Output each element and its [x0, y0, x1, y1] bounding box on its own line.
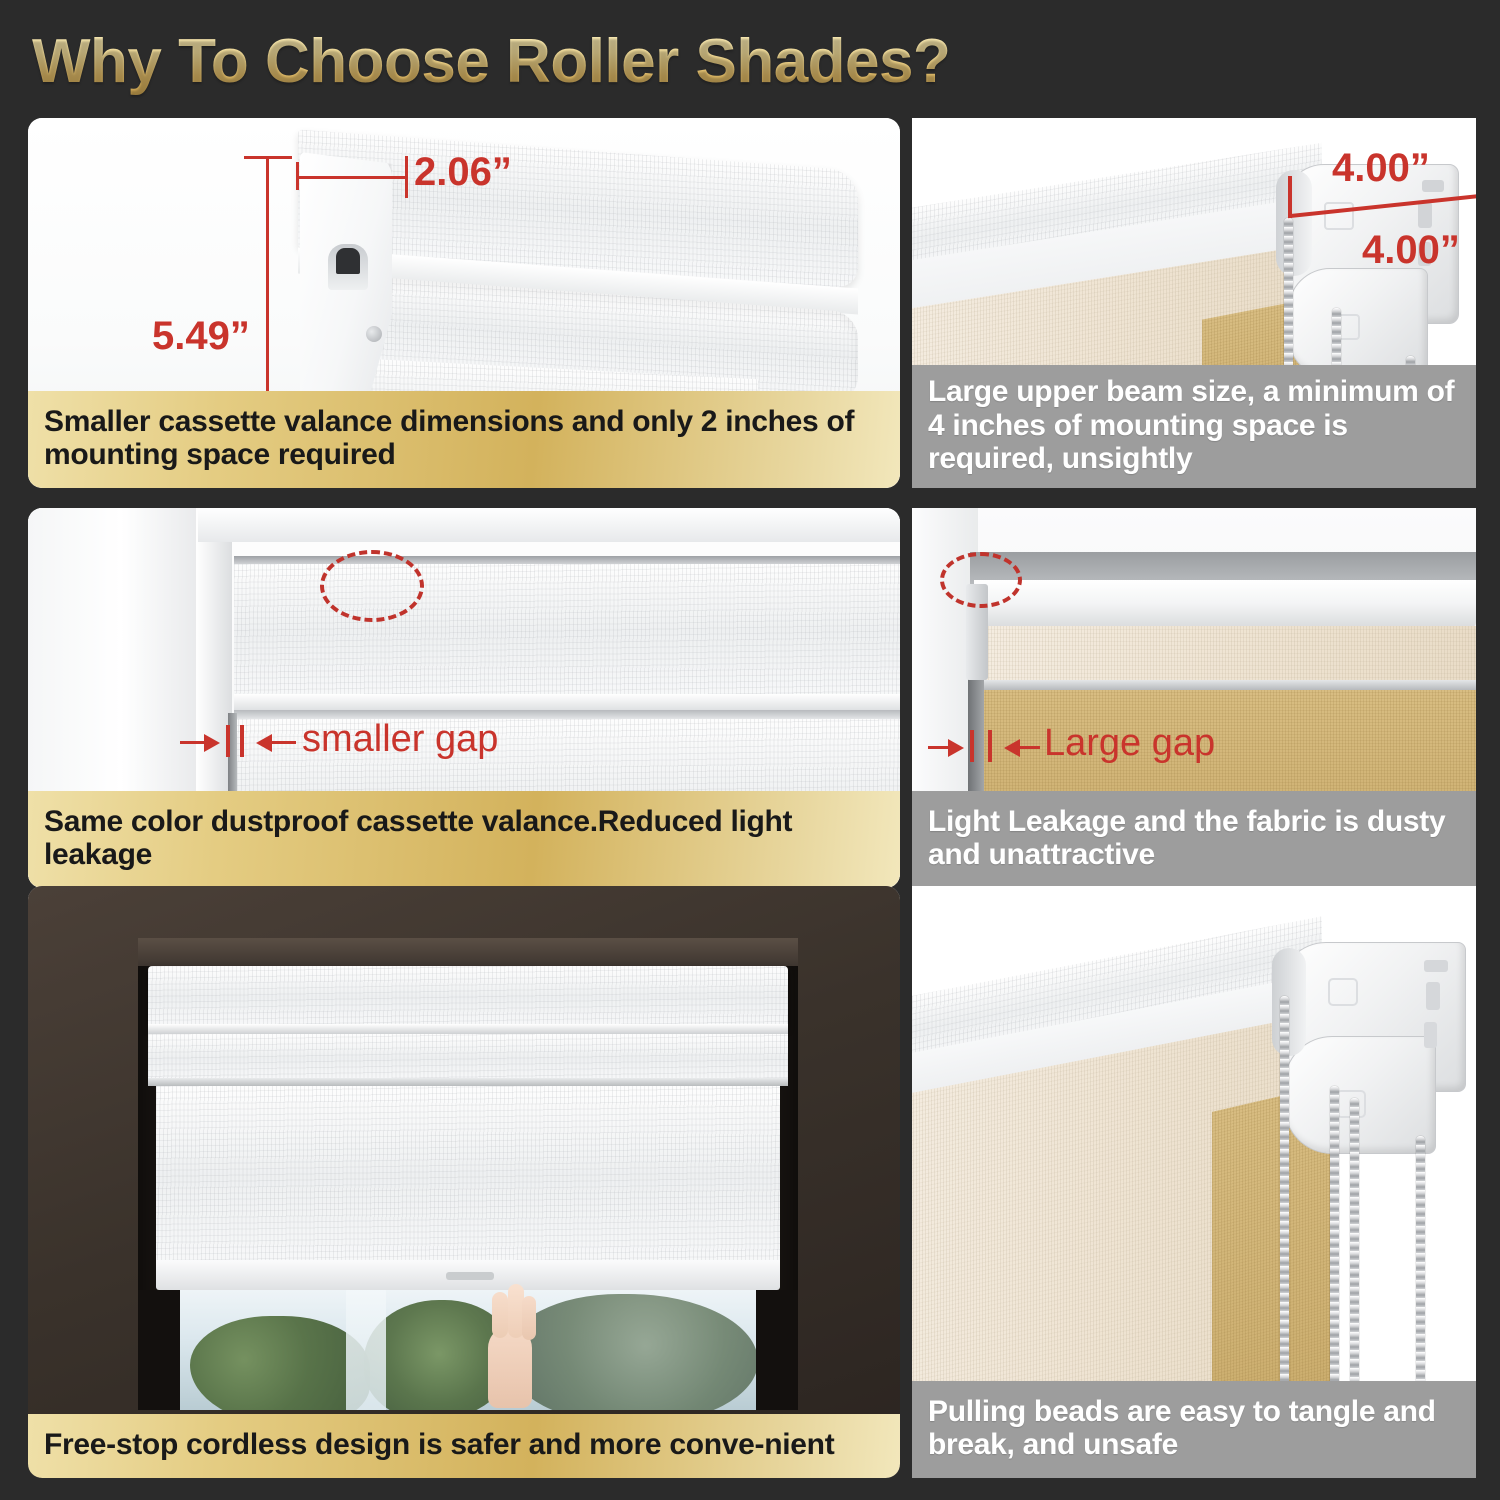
label-smaller-gap: smaller gap — [302, 718, 498, 761]
caption-light-leakage: Light Leakage and the fabric is dusty an… — [912, 791, 1476, 888]
largegap-tick-a — [970, 730, 974, 762]
bracket-slot-c — [1424, 1022, 1437, 1048]
valance-second-band — [148, 1034, 788, 1082]
panel-smaller-cassette: 5.49” 2.06” Smaller cassette valance dim… — [28, 118, 900, 488]
cream-band-lip — [982, 680, 1476, 690]
bracket-slot-icon — [336, 248, 360, 274]
hand-illustration — [480, 1282, 538, 1408]
dim-horizontal-line — [296, 176, 408, 179]
panel-dustproof-valance: smaller gap Same color dustproof cassett… — [28, 508, 900, 888]
dim-label-beam-width: 4.00” — [1332, 146, 1430, 191]
dim-label-width: 2.06” — [414, 150, 512, 195]
sky-gap — [346, 1290, 386, 1410]
cream-band — [982, 626, 1476, 682]
panel-cordless-design: Free-stop cordless design is safer and m… — [28, 886, 900, 1478]
caption-large-beam: Large upper beam size, a minimum of 4 in… — [912, 365, 1476, 488]
screw-icon — [366, 326, 382, 342]
window-valance — [148, 966, 788, 1028]
dim-vertical-tick-top — [244, 156, 292, 159]
valance-second-edge — [148, 1078, 788, 1086]
window-shade-fabric — [156, 1086, 780, 1266]
highlight-ellipse-gap — [940, 552, 1022, 608]
largegap-arrow-right — [948, 739, 964, 757]
caption-cordless-design: Free-stop cordless design is safer and m… — [28, 1414, 900, 1478]
gap-tick-a — [226, 725, 230, 757]
valance-lip — [234, 694, 900, 710]
caption-pulling-beads: Pulling beads are easy to tangle and bre… — [912, 1381, 1476, 1478]
outside-view — [178, 1290, 758, 1410]
bracket-emboss-top-icon — [1328, 978, 1358, 1006]
window-header-trim — [138, 938, 798, 966]
bracket-slot-b — [1426, 982, 1440, 1010]
dim-horizontal-tick-right — [405, 156, 408, 198]
roller-tube-white — [974, 580, 1476, 628]
highlight-ellipse — [320, 550, 424, 622]
gap-tick-b — [240, 725, 244, 757]
largegap-arrow-tail-left — [928, 746, 950, 749]
photo-cordless-window — [28, 886, 900, 1478]
bracket-slot-a — [1424, 960, 1448, 972]
tree-foliage-left — [190, 1316, 370, 1410]
tree-foliage-right — [508, 1294, 758, 1410]
comparison-grid: 5.49” 2.06” Smaller cassette valance dim… — [28, 118, 1476, 1478]
roller-disc-stack — [1272, 948, 1306, 1056]
largegap-arrow-tail-right — [1018, 746, 1040, 749]
largegap-tick-b — [988, 730, 992, 762]
valance-bottom-edge — [148, 1024, 788, 1034]
gap-arrow-right — [204, 734, 220, 752]
bracket-slot-2 — [1418, 202, 1432, 228]
gap-arrow-tail-left — [180, 741, 206, 744]
infographic-page: Why To Choose Roller Shades? — [0, 0, 1500, 1500]
jamb-right — [756, 1290, 798, 1410]
gap-arrow-tail-right — [270, 741, 296, 744]
shade-pull-tab — [446, 1272, 494, 1280]
dim-horizontal-tick-left — [296, 162, 299, 190]
window-frame-top — [198, 508, 900, 542]
caption-smaller-cassette: Smaller cassette valance dimensions and … — [28, 391, 900, 488]
dim-label-beam-height: 4.00” — [1362, 228, 1460, 273]
label-large-gap: Large gap — [1044, 722, 1215, 765]
panel-large-beam: 4.00” 4.00” Large upper beam size, a min… — [912, 118, 1476, 488]
dim-label-height: 5.49” — [152, 314, 250, 359]
roller-disc — [1276, 170, 1312, 276]
caption-dustproof-valance: Same color dustproof cassette valance.Re… — [28, 791, 900, 888]
panel-pulling-beads: Pulling beads are easy to tangle and bre… — [912, 886, 1476, 1478]
page-title: Why To Choose Roller Shades? — [32, 26, 950, 97]
jamb-left — [138, 1290, 180, 1410]
dim-top-tick-left — [1288, 176, 1292, 218]
panel-light-leakage: Large gap Light Leakage and the fabric i… — [912, 508, 1476, 888]
bracket-emboss-icon — [1324, 202, 1354, 230]
